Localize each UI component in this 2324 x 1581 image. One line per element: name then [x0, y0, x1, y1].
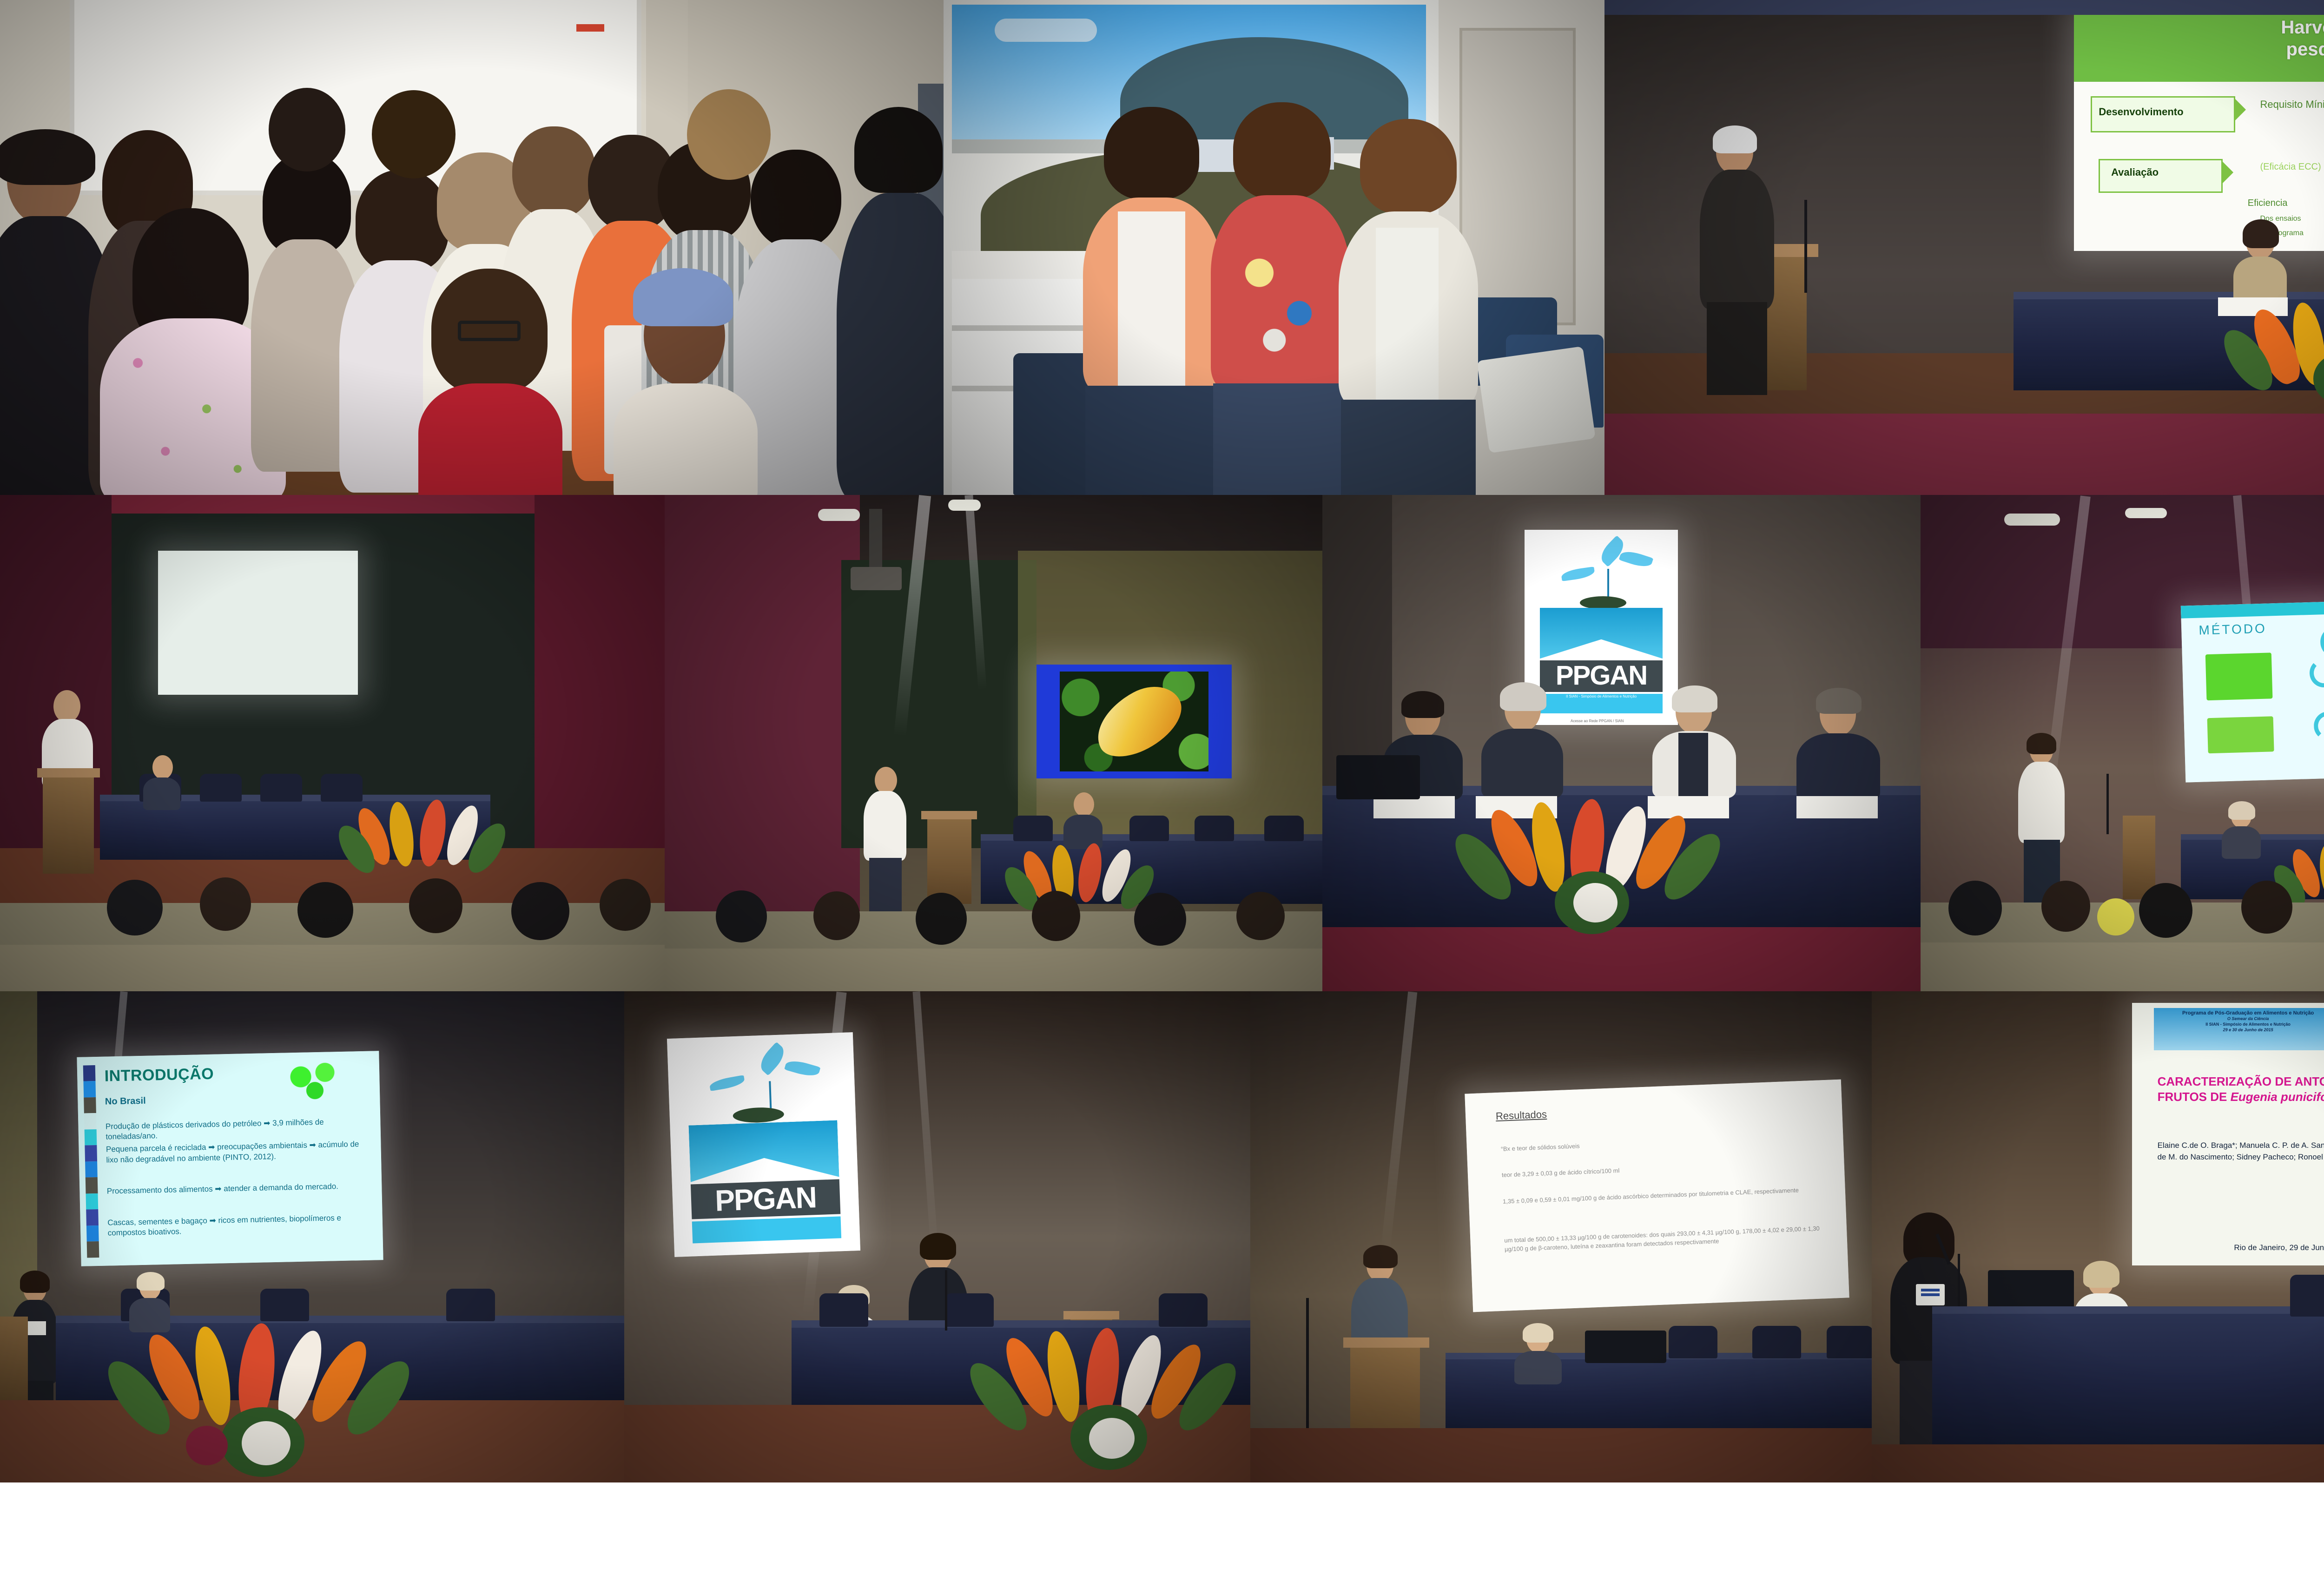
- antocianinas-header-line3: II SIAN - Simpósio de Alimentos e Nutriç…: [2161, 1022, 2324, 1028]
- harvestplus-step-2-label: Avaliação: [2111, 166, 2159, 178]
- panelist: [1792, 692, 1885, 799]
- ppgan-slide-footer: Acesse ao Rede PPGAN / SIAN: [1571, 719, 1624, 723]
- photo-antocianinas-presentation[interactable]: Programa de Pós-Graduação em Alimentos e…: [1872, 991, 2324, 1482]
- photo-introducao-slide-talk[interactable]: INTRODUÇÃO No Brasil Produção de plástic…: [0, 991, 624, 1482]
- photo-resultados-slide-talk[interactable]: Resultados °Bx e teor de sólidos solúvei…: [1250, 991, 1872, 1482]
- photo-three-women-window[interactable]: [944, 0, 1604, 495]
- resultados-slide-heading: Resultados: [1495, 1108, 1547, 1122]
- panelist: [1648, 690, 1741, 797]
- ppgan-poster-slide-2: PPGAN A Semear da Ciência: [667, 1032, 860, 1257]
- antocianinas-header-line1: Programa de Pós-Graduação em Alimentos e…: [2161, 1010, 2324, 1016]
- antocianinas-title-line1: CARACTERIZAÇÃO DE ANTOCIANINAS EM: [2158, 1074, 2324, 1090]
- flower-arrangement: [2213, 297, 2324, 409]
- photo-metodo-slide-talk[interactable]: MÉTODO: [1921, 495, 2324, 991]
- photo-group-photo-whiteboard[interactable]: [0, 0, 944, 495]
- bottom-white-band: [0, 1482, 2324, 1581]
- cacao-slide: [1037, 665, 1232, 778]
- harvestplus-step-2-value: (Eficácia ECC): [2260, 162, 2321, 172]
- harvestplus-footer-heading: Eficiencia: [2248, 198, 2288, 209]
- metodo-slide-title: MÉTODO: [2199, 621, 2267, 638]
- antocianinas-authors: Elaine C.de O. Braga*; Manuela C. P. de …: [2158, 1140, 2324, 1163]
- antocianinas-location-date: Rio de Janeiro, 29 de Junho de 2015: [2132, 1243, 2324, 1252]
- photo-panel-table-ppgan[interactable]: PPGAN A Semear da Ciência II SIAN - Simp…: [1322, 495, 1921, 991]
- photo-collage: HarvestPlus: Fases de pesquisa em Nutriç…: [0, 0, 2324, 1581]
- antocianinas-header-line2: O Semear da Ciência: [2161, 1016, 2324, 1022]
- photo-harvestplus-lecture[interactable]: HarvestPlus: Fases de pesquisa em Nutriç…: [1604, 0, 2324, 495]
- antocianinas-header-line4: 29 e 30 de Junho de 2015: [2161, 1028, 2324, 1033]
- projection-screen: [158, 551, 358, 695]
- harvestplus-step-1-label: Desenvolvimento: [2099, 106, 2183, 118]
- antocianinas-title-line2-pre: FRUTOS DE: [2158, 1090, 2231, 1104]
- harvestplus-slide-title: HarvestPlus: Fases de pesquisa em Nutriç…: [2223, 17, 2324, 60]
- ppgan-slide-word: PPGAN: [1540, 660, 1663, 692]
- harvestplus-slide: HarvestPlus: Fases de pesquisa em Nutriç…: [2074, 9, 2324, 251]
- resultados-slide: Resultados °Bx e teor de sólidos solúvei…: [1465, 1080, 1849, 1312]
- introducao-slide-subtitle: No Brasil: [105, 1095, 146, 1107]
- metodo-slide: MÉTODO: [2181, 598, 2324, 782]
- harvestplus-step-1-value: Requisito Mínimo: [2260, 99, 2324, 111]
- introducao-slide: INTRODUÇÃO No Brasil Produção de plástic…: [77, 1051, 383, 1266]
- ppgan-slide-tagline: A Semear da Ciência: [1543, 654, 1660, 659]
- photo-auditorium-wide-speaker[interactable]: [0, 495, 665, 991]
- introducao-slide-title: INTRODUÇÃO: [104, 1065, 214, 1085]
- antocianinas-species-name: Eugenia punicifolia: [2231, 1090, 2324, 1104]
- antocianinas-slide: Programa de Pós-Graduação em Alimentos e…: [2132, 1003, 2324, 1265]
- photo-ppgan-slide-talk[interactable]: PPGAN A Semear da Ciência: [624, 991, 1250, 1482]
- panelist: [1476, 688, 1569, 797]
- photo-cacao-slide-talk[interactable]: [665, 495, 1322, 991]
- ppgan-slide-2-word: PPGAN: [691, 1179, 840, 1219]
- speaker: [1690, 130, 1783, 390]
- flower-arrangement: [1462, 802, 1722, 936]
